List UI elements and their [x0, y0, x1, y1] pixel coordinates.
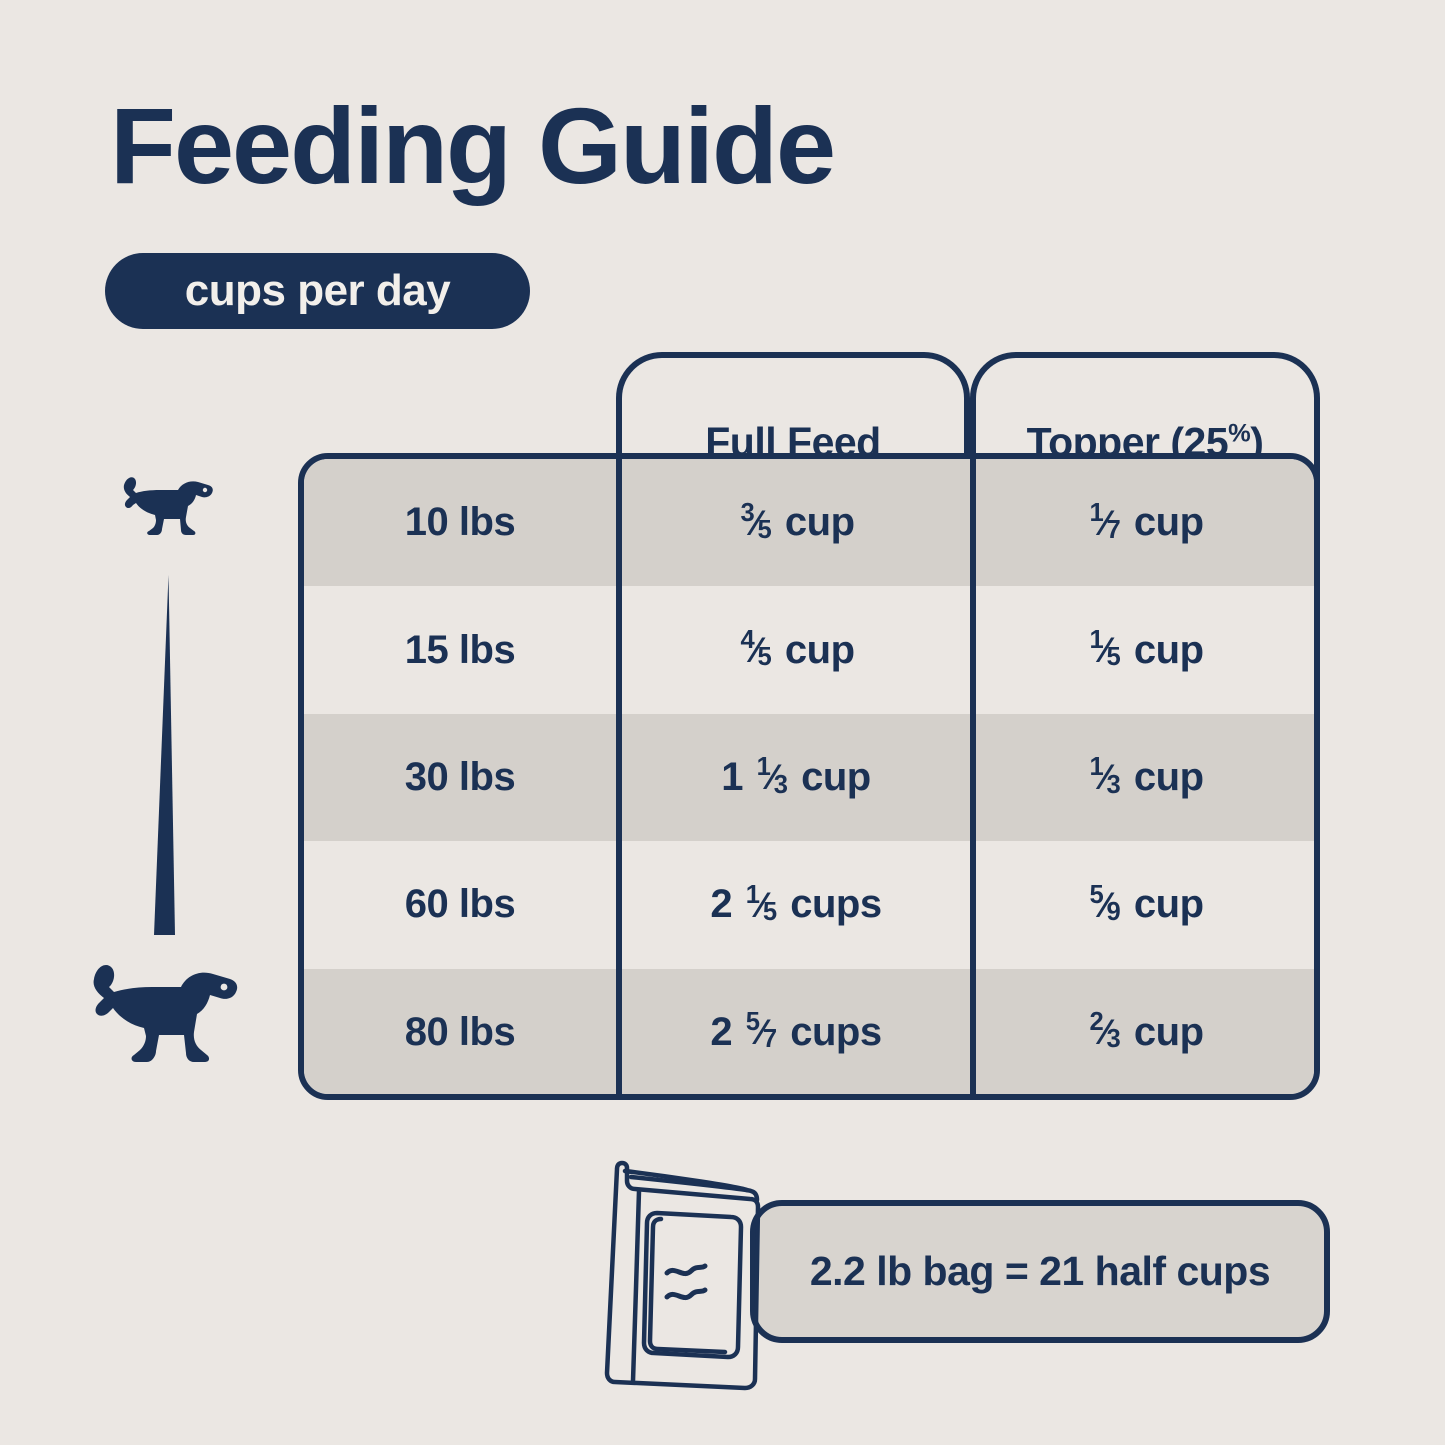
cups-per-day-pill: cups per day	[105, 253, 530, 329]
table-row: 60 lbs 2 1⁄5 cups 5⁄9 cup	[304, 841, 1314, 968]
large-dog-icon	[82, 953, 242, 1071]
fraction: 4⁄5	[739, 626, 772, 672]
fraction: 1⁄5	[745, 881, 778, 927]
unit: cup	[1134, 755, 1204, 800]
cell-topper: 5⁄9 cup	[970, 841, 1314, 968]
cell-topper: 1⁄3 cup	[970, 714, 1314, 841]
size-gradient-wedge-icon	[148, 575, 190, 945]
fraction: 1⁄5	[1088, 626, 1121, 672]
bag-callout-text: 2.2 lb bag = 21 half cups	[810, 1248, 1270, 1295]
cell-weight: 30 lbs	[304, 714, 616, 841]
cell-weight: 80 lbs	[304, 969, 616, 1096]
fraction: 3⁄5	[739, 499, 772, 545]
bag-callout: 2.2 lb bag = 21 half cups	[750, 1200, 1330, 1343]
fraction: 5⁄9	[1088, 881, 1121, 927]
food-bag-icon	[595, 1145, 795, 1395]
whole-number: 2	[710, 1010, 732, 1055]
unit: cup	[785, 628, 855, 673]
table-row: 80 lbs 2 5⁄7 cups 2⁄3 cup	[304, 969, 1314, 1096]
unit: cups	[790, 1010, 881, 1055]
unit: cup	[1134, 882, 1204, 927]
header-topper-percent: %	[1228, 419, 1250, 447]
whole-number: 1	[721, 755, 743, 800]
small-dog-icon	[116, 469, 216, 541]
cell-full-feed: 2 1⁄5 cups	[616, 841, 970, 968]
cell-weight: 10 lbs	[304, 459, 616, 586]
cell-full-feed: 4⁄5 cup	[616, 586, 970, 713]
table-row: 15 lbs 4⁄5 cup 1⁄5 cup	[304, 586, 1314, 713]
table-row: 10 lbs 3⁄5 cup 1⁄7 cup	[304, 459, 1314, 586]
cups-per-day-label: cups per day	[185, 266, 450, 316]
whole-number: 2	[710, 882, 732, 927]
fraction: 1⁄7	[1088, 499, 1121, 545]
unit: cup	[801, 755, 871, 800]
table-body: 10 lbs 3⁄5 cup 1⁄7 cup 15 lbs 4⁄5 cup 1⁄…	[298, 453, 1320, 1100]
cell-full-feed: 2 5⁄7 cups	[616, 969, 970, 1096]
fraction: 2⁄3	[1088, 1008, 1121, 1054]
cell-topper: 1⁄7 cup	[970, 459, 1314, 586]
cell-weight: 60 lbs	[304, 841, 616, 968]
bag-callout-group: 2.2 lb bag = 21 half cups	[595, 1145, 1330, 1395]
cell-topper: 1⁄5 cup	[970, 586, 1314, 713]
unit: cup	[1134, 500, 1204, 545]
unit: cups	[790, 882, 881, 927]
cell-topper: 2⁄3 cup	[970, 969, 1314, 1096]
unit: cup	[1134, 628, 1204, 673]
dog-size-scale	[80, 455, 280, 1100]
cell-full-feed: 1 1⁄3 cup	[616, 714, 970, 841]
unit: cup	[785, 500, 855, 545]
fraction: 1⁄3	[1088, 753, 1121, 799]
fraction: 1⁄3	[756, 753, 789, 799]
feeding-guide-infographic: Feeding Guide cups per day Full Feed Top…	[0, 0, 1445, 1445]
cell-weight: 15 lbs	[304, 586, 616, 713]
fraction: 5⁄7	[745, 1008, 778, 1054]
page-title: Feeding Guide	[110, 92, 834, 200]
unit: cup	[1134, 1010, 1204, 1055]
feeding-table: Full Feed Topper (25%) 10 lbs 3⁄5 cup 1⁄…	[298, 352, 1320, 1100]
cell-full-feed: 3⁄5 cup	[616, 459, 970, 586]
table-row: 30 lbs 1 1⁄3 cup 1⁄3 cup	[304, 714, 1314, 841]
